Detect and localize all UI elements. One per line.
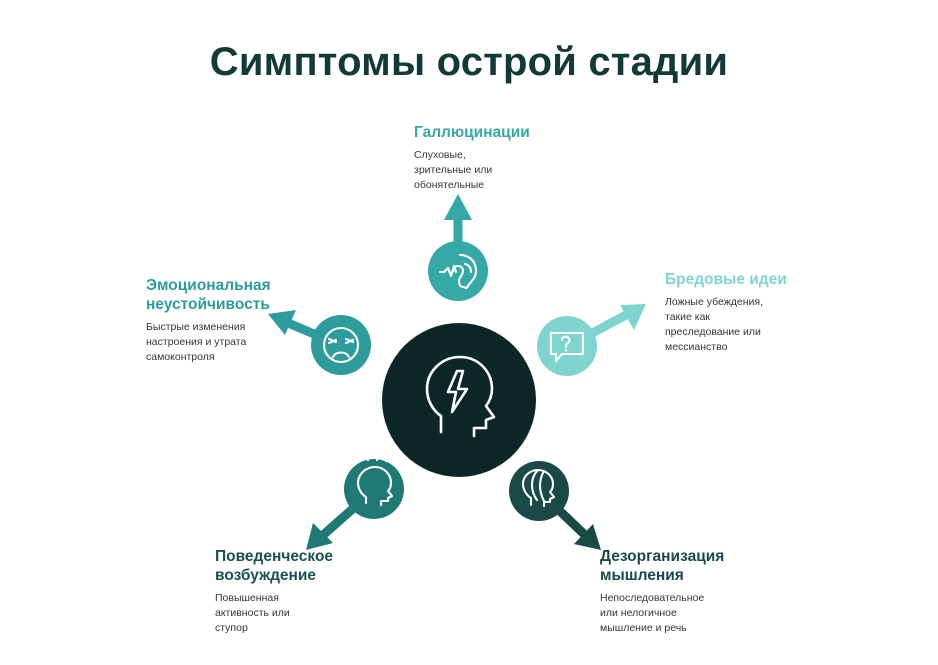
- node-hallucinations[interactable]: [428, 241, 488, 301]
- label-hallucinations: Галлюцинации Слуховые, зрительные или об…: [414, 124, 594, 193]
- node-heading: Поведенческое возбуждение: [215, 548, 385, 586]
- node-heading: Эмоциональная неустойчивость: [146, 277, 278, 315]
- node-circle: [428, 241, 488, 301]
- node-description: Слуховые, зрительные или обонятельные: [414, 148, 594, 193]
- hub-node[interactable]: [382, 323, 536, 477]
- node-heading: Галлюцинации: [414, 124, 594, 143]
- label-delusions: Бредовые идеи Ложные убеждения, такие ка…: [665, 271, 845, 355]
- node-heading: Бредовые идеи: [665, 271, 845, 290]
- node-delusions[interactable]: [537, 316, 597, 376]
- node-agitation[interactable]: [344, 453, 404, 519]
- node-disorganized[interactable]: [509, 461, 569, 521]
- node-description: Ложные убеждения, такие как преследовани…: [665, 295, 845, 355]
- node-description: Повышенная активность или ступор: [215, 591, 385, 636]
- node-description: Непоследовательное или нелогичное мышлен…: [600, 591, 780, 636]
- label-agitation: Поведенческое возбуждение Повышенная акт…: [215, 548, 385, 636]
- node-description: Быстрые изменения настроения и утрата са…: [146, 320, 278, 365]
- label-emotional: Эмоциональная неустойчивость Быстрые изм…: [146, 277, 278, 365]
- infographic-canvas: Симптомы острой стадии: [0, 0, 938, 665]
- node-heading: Дезорганизация мышления: [600, 548, 780, 586]
- label-disorganized: Дезорганизация мышления Непоследовательн…: [600, 548, 780, 636]
- node-emotional[interactable]: [311, 315, 371, 375]
- node-circle: [311, 315, 371, 375]
